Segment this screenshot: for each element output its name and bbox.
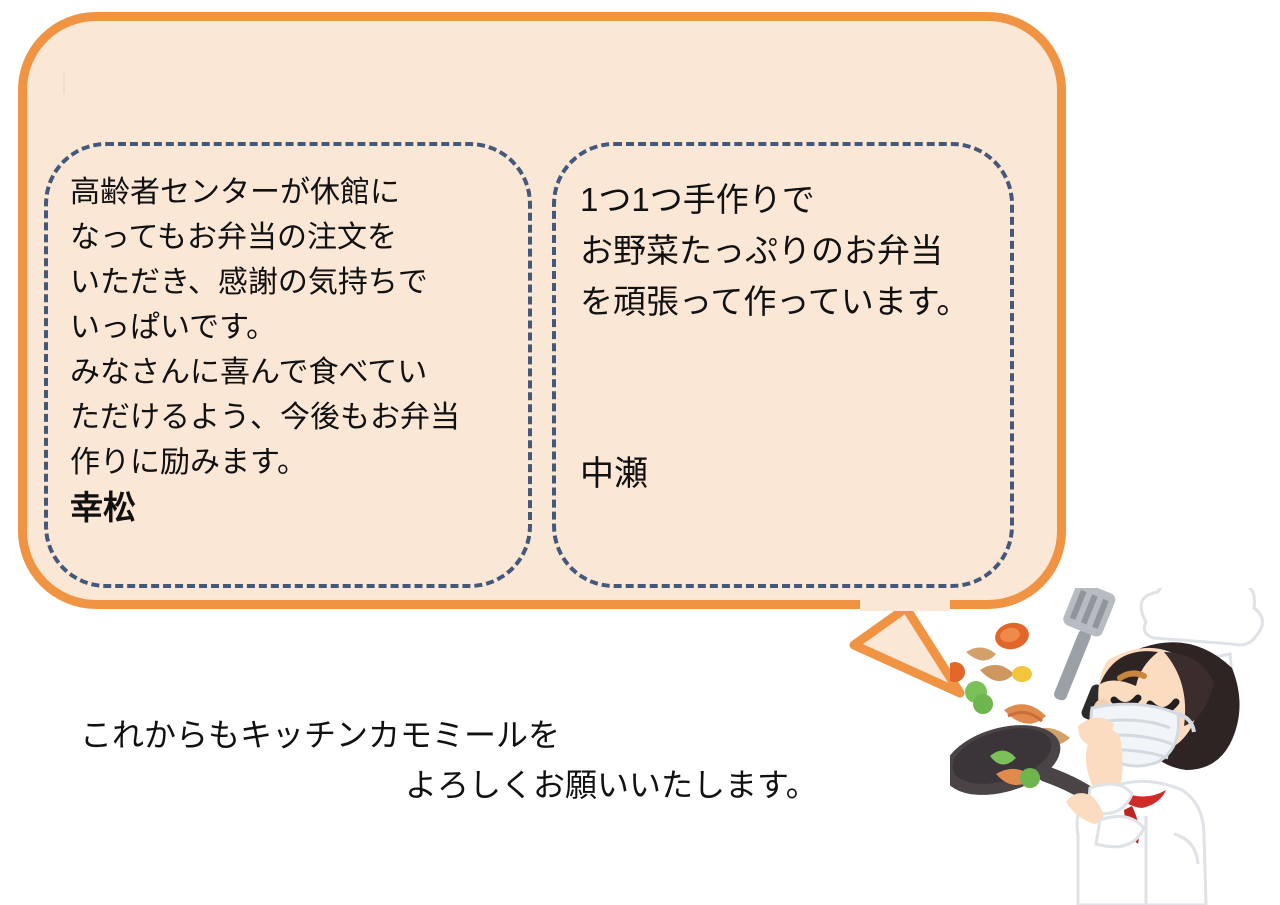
page-canvas: キッチンカモミールの職員からのメッセージです 高齢者センターが休館に なってもお… (0, 0, 1280, 905)
note-right-signature: 中瀬 (580, 452, 648, 497)
note-card-left: 高齢者センターが休館に なってもお弁当の注文を いただき、感謝の気持ちで いっぱ… (44, 142, 532, 588)
note-card-right: 1つ1つ手作りで お野菜たっぷりのお弁当 を頑張って作っています。 中瀬 (552, 142, 1014, 588)
note-left-body: 高齢者センターが休館に なってもお弁当の注文を いただき、感謝の気持ちで いっぱ… (70, 170, 460, 485)
note-right-body: 1つ1つ手作りで お野菜たっぷりのお弁当 を頑張って作っています。 (580, 174, 969, 327)
closing-line-2: よろしくお願いいたします。 (405, 760, 818, 806)
text-caret-artifact (63, 72, 65, 94)
note-left-signature: 幸松 (70, 485, 136, 530)
tail-triangle (854, 608, 960, 693)
closing-line-1: これからもキッチンカモミールを (80, 710, 560, 756)
female-chef-illustration (950, 588, 1275, 905)
tail-seam (860, 597, 950, 611)
